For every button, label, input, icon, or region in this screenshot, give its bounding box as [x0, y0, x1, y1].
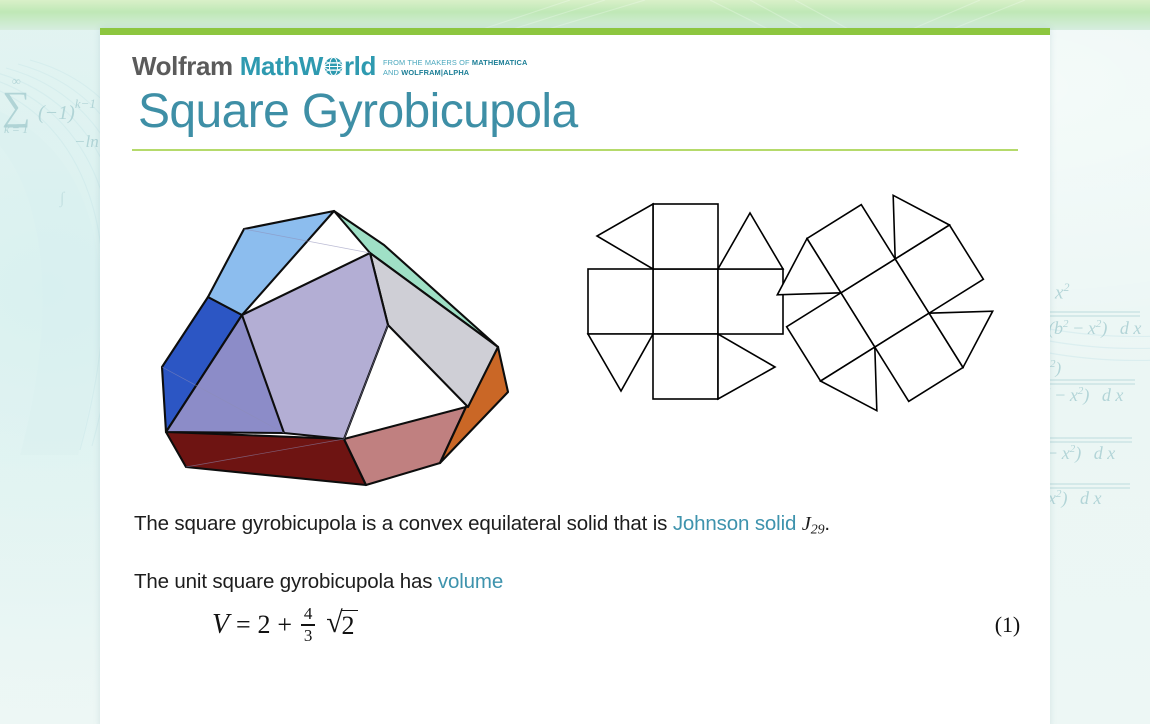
radicand: 2	[341, 610, 359, 639]
tagline-2-bold: WOLFRAM|ALPHA	[401, 68, 469, 77]
tagline-2-plain: AND	[383, 68, 401, 77]
tagline-1-plain: FROM THE MAKERS OF	[383, 58, 472, 67]
brand-wolfram-text: Wolfram	[132, 53, 233, 79]
tagline-line-1: FROM THE MAKERS OF MATHEMATICA	[383, 58, 528, 67]
net-triangle-lower-right	[718, 334, 775, 399]
background-formula-ln: −ln	[74, 132, 99, 152]
net-triangle-lower-left	[588, 334, 653, 391]
johnson-symbol-subscript: 29	[811, 522, 825, 537]
tagline-line-2: AND WOLFRAM|ALPHA	[383, 68, 469, 77]
net-triangle-upper-left	[597, 204, 653, 269]
paragraph-1-part-2: .	[824, 512, 830, 535]
equation-term-1: 2	[257, 605, 270, 644]
background-formula-sum-limits-bottom: k = 1	[4, 122, 28, 137]
brand-mathworld-post: rld	[344, 53, 376, 79]
link-volume[interactable]: volume	[438, 570, 503, 593]
net-square-center	[653, 269, 718, 334]
tagline-1-bold: MATHEMATICA	[472, 58, 528, 67]
card-top-accent-bar	[100, 28, 1050, 35]
equation-square-root: √ 2	[326, 610, 358, 639]
background-formula-sum-limits-top: ∞	[12, 74, 21, 89]
net-square-top	[653, 204, 718, 269]
page-root: ∑ (−1)k−1 ∞ k = 1 −ln ∫ x2 (b2 − x2) d x…	[0, 0, 1150, 724]
face-bottom-square-darkred	[166, 432, 366, 485]
equation-number: (1)	[995, 608, 1020, 641]
equation-fraction: 4 3	[301, 605, 315, 645]
equation-equals: =	[236, 605, 251, 644]
equation-lhs: V	[212, 604, 229, 646]
johnson-symbol-base: J	[802, 513, 811, 535]
radical-sign-icon: √	[326, 609, 342, 638]
paragraph-volume: The unit square gyrobicupola has volume	[134, 567, 1020, 598]
net-square-bottom	[653, 334, 718, 399]
page-title: Square Gyrobicupola	[130, 85, 1020, 139]
paragraph-1-part-1: The square gyrobicupola is a convex equi…	[134, 512, 673, 535]
brand-mathworld-pre: MathW	[240, 53, 323, 79]
equation-plus: +	[277, 605, 292, 644]
background-formula-left-faint: ∫	[60, 190, 64, 208]
title-divider	[132, 149, 1018, 151]
square-gyrobicupola-net	[585, 189, 995, 419]
body-text: The square gyrobicupola is a convex equi…	[130, 509, 1020, 646]
figure-area	[130, 159, 1020, 509]
paragraph-2-part-1: The unit square gyrobicupola has	[134, 570, 438, 593]
volume-equation: V = 2 + 4 3 √ 2	[212, 604, 358, 646]
background-top-rays	[150, 0, 1150, 30]
background-formula-rules	[1040, 300, 1150, 510]
content-card: Wolfram MathW rld	[100, 28, 1050, 724]
globe-icon	[323, 56, 344, 77]
equation-row: V = 2 + 4 3 √ 2 (1)	[134, 604, 1020, 646]
fraction-numerator: 4	[301, 605, 315, 623]
brand-mathworld-text: MathW rld	[240, 53, 376, 79]
square-gyrobicupola-3d-solid	[148, 167, 568, 497]
fraction-denominator: 3	[301, 627, 315, 645]
paragraph-definition: The square gyrobicupola is a convex equi…	[134, 509, 1020, 541]
net-square-right	[718, 269, 783, 334]
link-johnson-solid[interactable]: Johnson solid	[673, 512, 796, 535]
mathworld-logo[interactable]: Wolfram MathW rld	[130, 53, 1020, 79]
brand-tagline: FROM THE MAKERS OF MATHEMATICA AND WOLFR…	[383, 53, 528, 78]
johnson-solid-symbol: J29	[802, 513, 825, 535]
net-triangle-upper-right	[718, 213, 783, 269]
net-square-left	[588, 269, 653, 334]
